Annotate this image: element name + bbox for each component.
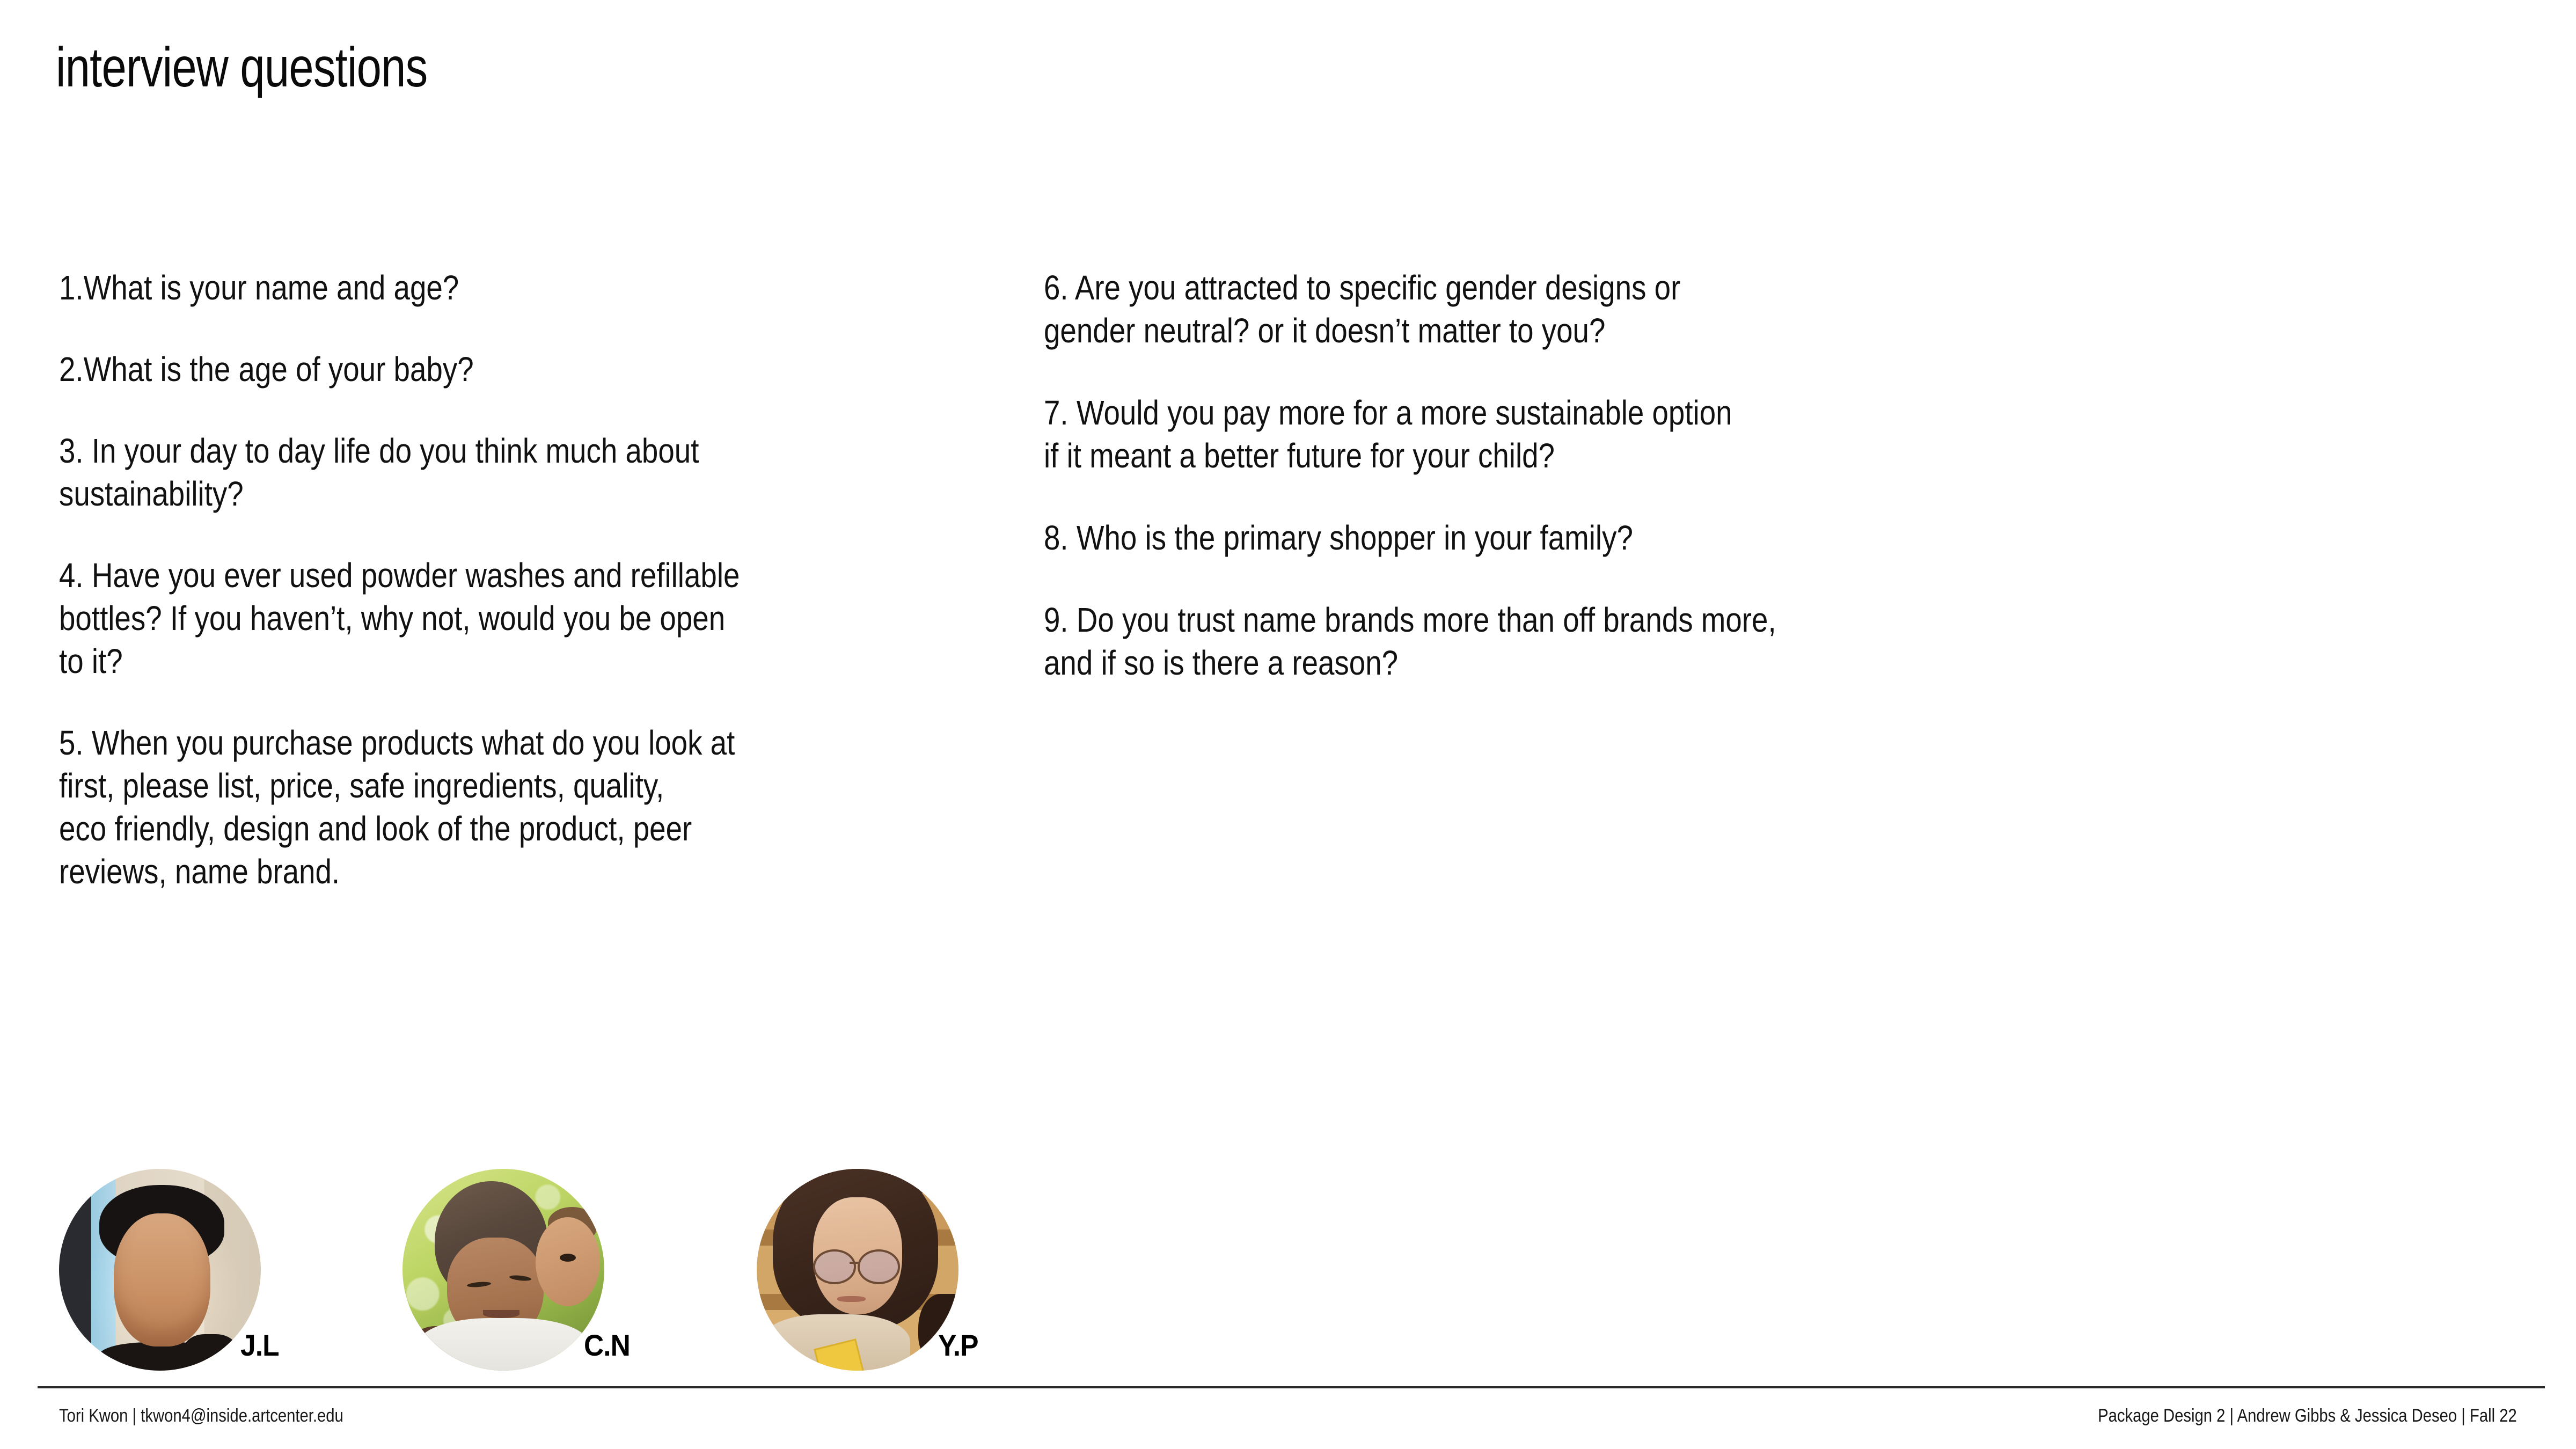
question-item: 1.What is your name and age? (59, 266, 1160, 309)
avatar (402, 1169, 604, 1371)
avatar-initials-label: J.L (240, 1328, 279, 1363)
question-item: 6. Are you attracted to specific gender … (1044, 266, 2171, 352)
question-item: 7. Would you pay more for a more sustain… (1044, 391, 2171, 477)
question-line: gender neutral? or it doesn’t matter to … (1044, 309, 2171, 352)
interviewee-cn: C.N (402, 1169, 703, 1384)
avatar-initials-label: Y.P (938, 1328, 978, 1363)
question-item: 2.What is the age of your baby? (59, 348, 1160, 391)
question-item: 3. In your day to day life do you think … (59, 429, 1160, 515)
interviewee-yp: Y.P (757, 1169, 1057, 1384)
interviewee-jl: J.L (59, 1169, 360, 1384)
question-item: 4. Have you ever used powder washes and … (59, 554, 1160, 683)
question-line: 5. When you purchase products what do yo… (59, 721, 1160, 764)
questions-column-left: 1.What is your name and age? 2.What is t… (59, 266, 1159, 932)
avatar (59, 1169, 261, 1371)
portrait-photo-icon (402, 1169, 604, 1371)
avatar-initials-label: C.N (584, 1328, 630, 1363)
footer-author-credit: Tori Kwon | tkwon4@inside.artcenter.edu (59, 1405, 343, 1426)
question-line: bottles? If you haven’t, why not, would … (59, 597, 1160, 640)
portrait-photo-icon (59, 1169, 261, 1371)
question-line: 1.What is your name and age? (59, 266, 1160, 309)
question-line: 9. Do you trust name brands more than of… (1044, 598, 2171, 641)
question-line: reviews, name brand. (59, 850, 1160, 893)
question-line: if it meant a better future for your chi… (1044, 434, 2171, 477)
question-line: sustainability? (59, 472, 1160, 515)
question-line: to it? (59, 640, 1160, 683)
question-line: and if so is there a reason? (1044, 641, 2171, 684)
question-line: 8. Who is the primary shopper in your fa… (1044, 516, 2171, 559)
question-line: 7. Would you pay more for a more sustain… (1044, 391, 2171, 434)
footer-course-credit: Package Design 2 | Andrew Gibbs & Jessic… (2098, 1405, 2517, 1426)
question-line: 4. Have you ever used powder washes and … (59, 554, 1160, 597)
portrait-detail (59, 1169, 261, 1371)
page-title: interview questions (56, 39, 427, 97)
question-item: 8. Who is the primary shopper in your fa… (1044, 516, 2171, 559)
question-item: 9. Do you trust name brands more than of… (1044, 598, 2171, 684)
question-line: 6. Are you attracted to specific gender … (1044, 266, 2171, 309)
interviewee-avatar-row: J.L C.N (0, 1169, 2576, 1384)
question-line: 2.What is the age of your baby? (59, 348, 1160, 391)
avatar (757, 1169, 958, 1371)
question-line: 3. In your day to day life do you think … (59, 429, 1160, 472)
footer-divider (38, 1386, 2545, 1388)
slide-canvas: interview questions 1.What is your name … (0, 0, 2576, 1449)
question-item: 5. When you purchase products what do yo… (59, 721, 1160, 893)
question-line: eco friendly, design and look of the pro… (59, 807, 1160, 850)
portrait-photo-icon (757, 1169, 958, 1371)
questions-column-right: 6. Are you attracted to specific gender … (1044, 266, 2171, 723)
question-line: first, please list, price, safe ingredie… (59, 764, 1160, 807)
